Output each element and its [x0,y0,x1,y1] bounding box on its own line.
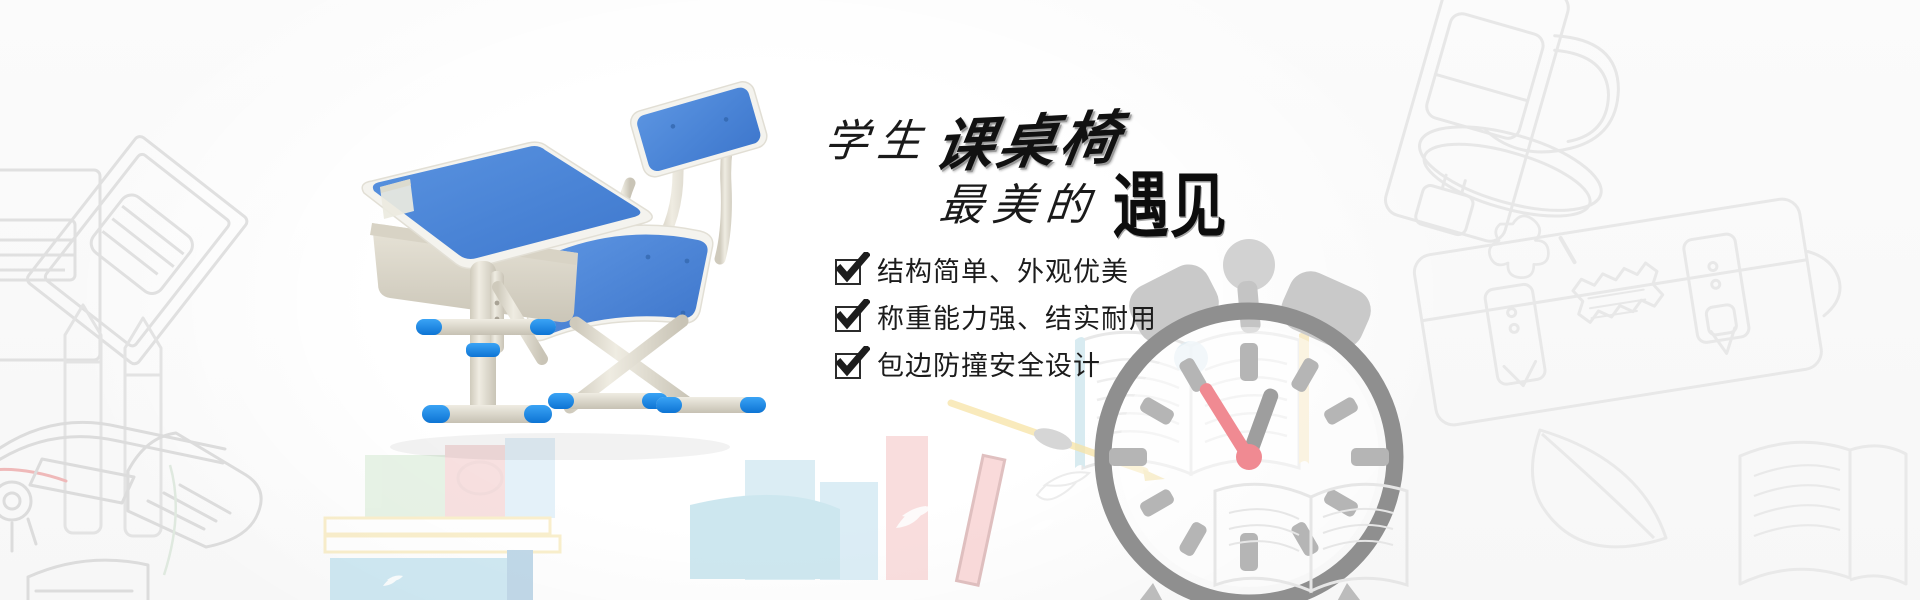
checkbox-checked-icon [835,306,861,332]
feature-item: 称重能力强、结实耐用 [835,297,1157,341]
feature-label: 包边防撞安全设计 [877,353,1101,380]
dove-illustration [1025,455,1115,525]
banner-copy: 学生课桌椅 最美的遇见 结构简单、外观优美 [815,95,1515,395]
checkbox-checked-icon [835,353,861,379]
open-book-small-illustration [1195,455,1445,600]
chair [526,79,770,413]
headline: 学生课桌椅 最美的遇见 [815,95,1515,235]
feature-item: 包边防撞安全设计 [835,344,1157,388]
checkbox-checked-icon [835,259,861,285]
pencils-outline-illustration [55,300,275,540]
product-photo-desk-and-chair [330,75,800,455]
desk-and-chair-illustration [330,75,800,460]
headline-line1-prefix: 学生 [822,105,935,169]
pencil-diagonal-illustration [945,395,1205,515]
feature-label: 称重能力强、结实耐用 [877,306,1157,333]
feature-label: 结构简单、外观优美 [877,259,1129,286]
promo-banner: 学生课桌椅 最美的遇见 结构简单、外观优美 [0,0,1920,600]
books-outline-illustration [0,95,300,375]
headline-line-2: 最美的遇见 [940,157,1231,244]
headline-line2-bold: 遇见 [1113,149,1228,252]
headline-line2-prefix: 最美的 [937,169,1103,233]
leaf-outline-illustration [1530,420,1920,600]
feature-list: 结构简单、外观优美 称重能力强、结实耐用 包边防撞安全设计 [835,250,1157,391]
feature-item: 结构简单、外观优美 [835,250,1157,294]
